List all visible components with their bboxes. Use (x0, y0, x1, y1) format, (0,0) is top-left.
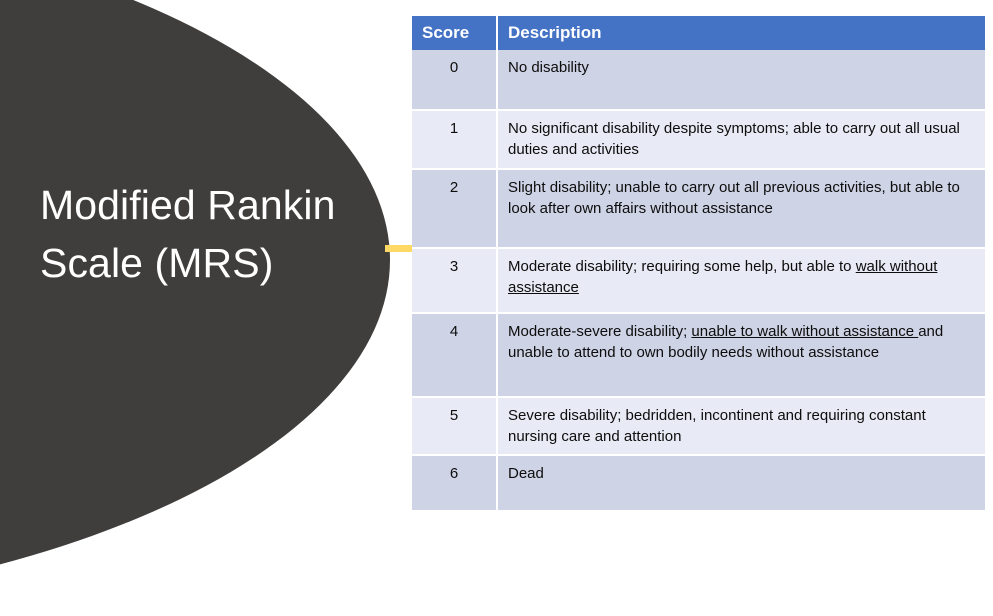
cell-description: Dead (497, 455, 985, 511)
table-row: 5 Severe disability; bedridden, incontin… (412, 397, 985, 456)
text-plain: Moderate-severe disability; (508, 323, 691, 340)
cell-description: Moderate disability; requiring some help… (497, 248, 985, 313)
table-row: 6 Dead (412, 455, 985, 511)
title-panel: Modified Rankin Scale (MRS) (0, 0, 390, 616)
cell-score: 4 (412, 313, 497, 397)
cell-score: 6 (412, 455, 497, 511)
column-header-score: Score (412, 16, 497, 50)
cell-score: 2 (412, 169, 497, 248)
page-title: Modified Rankin Scale (MRS) (40, 176, 370, 292)
cell-description: No disability (497, 50, 985, 110)
cell-description: Slight disability; unable to carry out a… (497, 169, 985, 248)
text-plain: Moderate disability; requiring some help… (508, 258, 856, 275)
cell-score: 0 (412, 50, 497, 110)
cell-description: Moderate-severe disability; unable to wa… (497, 313, 985, 397)
table-row: 0 No disability (412, 50, 985, 110)
table-row: 4 Moderate-severe disability; unable to … (412, 313, 985, 397)
table-row: 1 No significant disability despite symp… (412, 110, 985, 169)
cell-description: Severe disability; bedridden, incontinen… (497, 397, 985, 456)
text-underlined: unable to walk without assistance (691, 323, 918, 340)
cell-score: 5 (412, 397, 497, 456)
table-row: 2 Slight disability; unable to carry out… (412, 169, 985, 248)
slide-canvas: Modified Rankin Scale (MRS) Score Descri… (0, 0, 993, 520)
cell-score: 1 (412, 110, 497, 169)
cell-score: 3 (412, 248, 497, 313)
cell-description: No significant disability despite sympto… (497, 110, 985, 169)
table-row: 3 Moderate disability; requiring some he… (412, 248, 985, 313)
column-header-description: Description (497, 16, 985, 50)
modified-rankin-scale-table: Score Description 0 No disability 1 No s… (412, 16, 985, 512)
table-header-row: Score Description (412, 16, 985, 50)
